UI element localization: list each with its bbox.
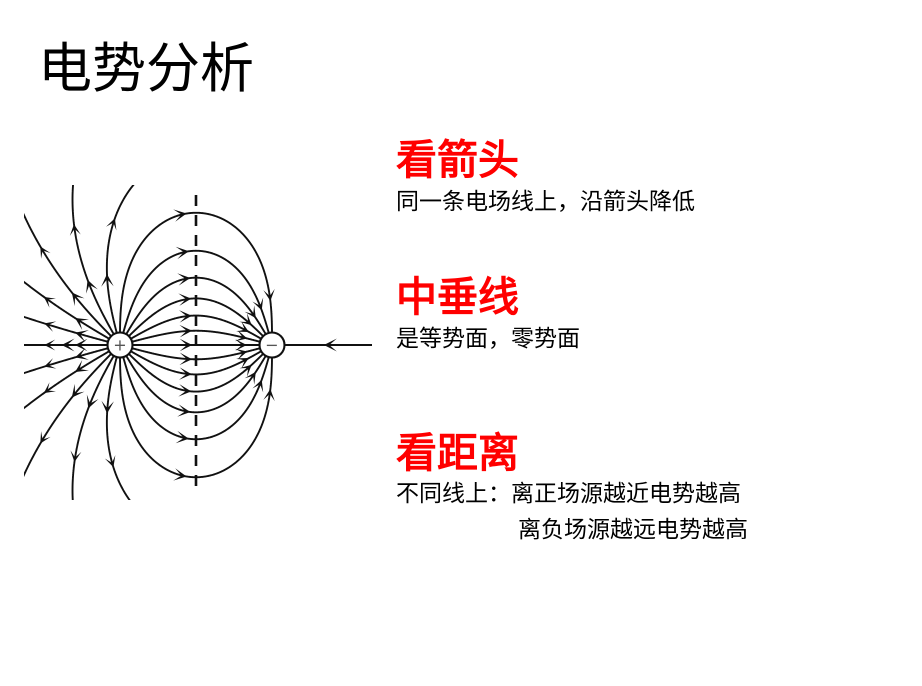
- rule-body-line: 离负场源越远电势越高: [396, 516, 748, 546]
- positive-charge-label: +: [113, 336, 126, 355]
- page-title: 电势分析: [38, 42, 254, 96]
- rule-heading: 看距离: [396, 433, 748, 474]
- rule-body-line: 同一条电场线上，沿箭头降低: [396, 188, 695, 218]
- negative-charge-label: −: [265, 336, 278, 355]
- field-direction-arrowhead: [40, 431, 50, 443]
- rule-heading: 看箭头: [396, 140, 695, 181]
- rule-body-line: 不同线上：离正场源越近电势越高: [396, 480, 748, 510]
- rule-heading: 中垂线: [396, 277, 580, 318]
- rule-block-see-arrow: 看箭头 同一条电场线上，沿箭头降低: [396, 140, 695, 218]
- field-direction-arrowhead: [75, 360, 89, 372]
- field-line: [120, 213, 272, 333]
- field-lines-group: [24, 185, 372, 500]
- rule-body-line: 是等势面，零势面: [396, 325, 580, 355]
- field-line: [24, 354, 111, 480]
- slide-canvas: 电势分析 + − 看箭头 同一条电场线上，沿箭头降低 中垂线 是等势面，零势面 …: [0, 0, 922, 686]
- field-direction-arrowhead: [75, 318, 89, 330]
- rule-block-perpendicular-bisector: 中垂线 是等势面，零势面: [396, 277, 580, 355]
- electric-dipole-diagram: + −: [24, 185, 372, 500]
- field-line: [24, 211, 111, 337]
- field-line: [107, 357, 131, 500]
- field-direction-arrowhead: [40, 246, 50, 258]
- rule-block-see-distance: 看距离 不同线上：离正场源越近电势越高 离负场源越远电势越高: [396, 433, 748, 546]
